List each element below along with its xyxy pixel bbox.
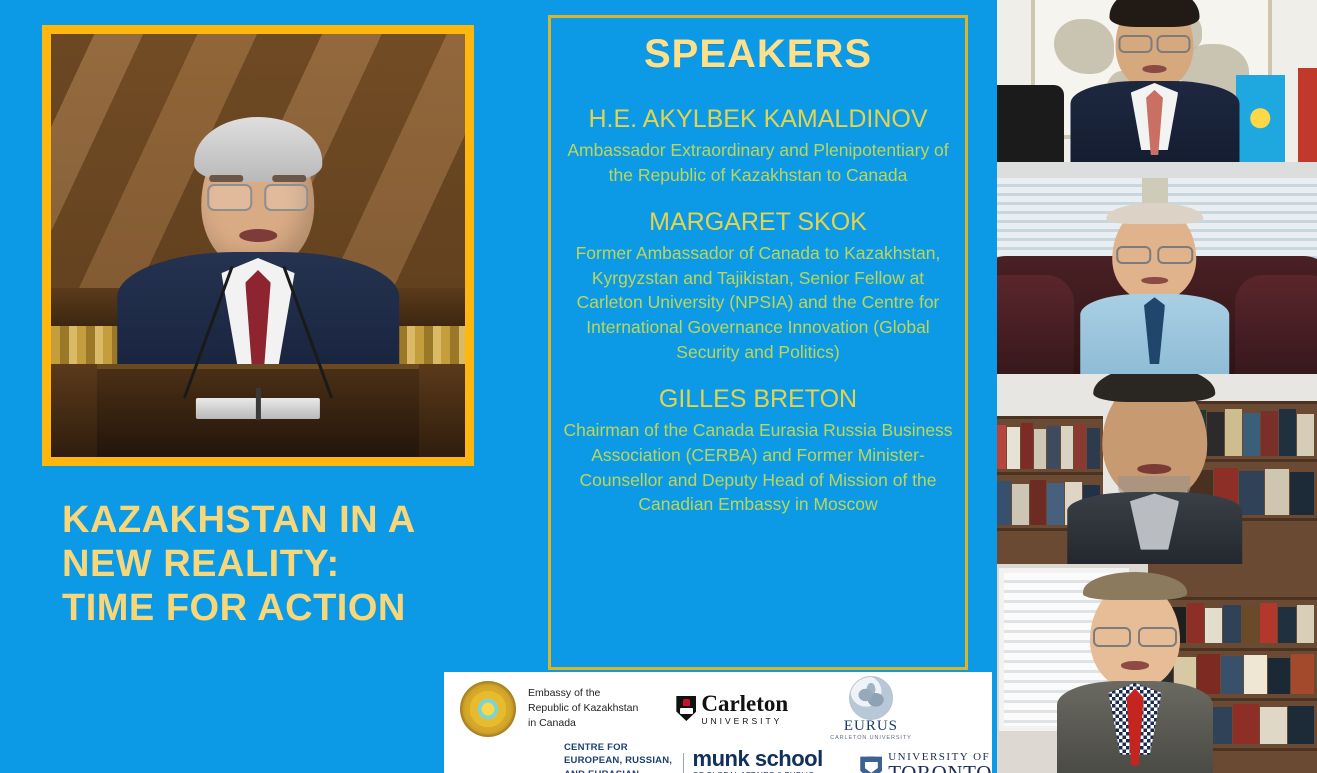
headline-line-3: TIME FOR ACTION	[62, 586, 482, 630]
speaker-role: Ambassador Extraordinary and Plenipotent…	[559, 138, 957, 188]
logo-divider	[683, 753, 684, 773]
participant-tile-2[interactable]	[992, 178, 1317, 374]
embassy-line-3: in Canada	[528, 716, 638, 731]
eyeglasses-icon	[1093, 627, 1176, 643]
eyeglasses-icon	[207, 184, 308, 207]
speaker-brow-right	[273, 175, 307, 182]
toronto-line-2: TORONTO	[888, 763, 992, 773]
ceres-text: CENTRE FOR EUROPEAN, RUSSIAN, AND EURASI…	[564, 741, 674, 773]
speaker-name: GILLES BRETON	[559, 385, 957, 413]
shared-presentation-slide: KAZAKHSTAN IN A NEW REALITY: TIME FOR AC…	[0, 0, 992, 773]
participant-3-shirt	[1130, 493, 1179, 549]
speaker-figure	[117, 128, 399, 402]
eurus-globe-icon	[849, 676, 893, 720]
participant-3-hair	[1093, 374, 1215, 402]
speaker-entry-1: H.E. AKYLBEK KAMALDINOV Ambassador Extra…	[559, 105, 957, 188]
tile-accent-strip	[992, 0, 997, 178]
participant-4-figure	[1057, 583, 1213, 773]
participant-1-head	[1116, 0, 1194, 90]
participant-2-mouth	[1141, 277, 1168, 285]
tile-accent-strip	[992, 178, 997, 374]
podium-nameplate	[196, 398, 320, 419]
university-of-toronto-logo: UNIVERSITY OF TORONTO	[860, 751, 992, 773]
eurus-logo: EURUS CARLETON UNIVERSITY	[830, 676, 911, 741]
speaker-entry-3: GILLES BRETON Chairman of the Canada Eur…	[559, 385, 957, 517]
president-portrait-frame	[42, 25, 474, 466]
ceres-line-3: AND EURASIAN STUDIES	[564, 768, 674, 773]
toronto-crest-icon	[860, 754, 882, 773]
headline-line-2: NEW REALITY:	[62, 542, 482, 586]
participant-3-figure	[1067, 378, 1243, 564]
tile-accent-strip	[992, 564, 997, 773]
participant-tile-1[interactable]	[992, 0, 1317, 178]
speaker-role: Former Ambassador of Canada to Kazakhsta…	[559, 241, 957, 365]
carleton-university-logo: Carleton UNIVERSITY	[676, 692, 788, 726]
tile-accent-strip	[992, 374, 997, 564]
embassy-line-1: Embassy of the	[528, 686, 638, 701]
eurus-name: EURUS	[844, 718, 898, 735]
speakers-panel: SPEAKERS H.E. AKYLBEK KAMALDINOV Ambassa…	[548, 15, 968, 670]
participant-1-mouth	[1142, 65, 1167, 73]
speaker-name: MARGARET SKOK	[559, 208, 957, 236]
podium-photo	[51, 34, 465, 457]
logo-row-top: Embassy of the Republic of Kazakhstan in…	[444, 672, 992, 741]
speakers-title: SPEAKERS	[559, 32, 957, 77]
desk-surface	[992, 162, 1317, 178]
speaker-role: Chairman of the Canada Eurasia Russia Bu…	[559, 418, 957, 517]
slide-headline: KAZAKHSTAN IN A NEW REALITY: TIME FOR AC…	[62, 498, 482, 630]
carleton-shield-icon	[676, 696, 696, 721]
participant-2-head	[1113, 206, 1197, 302]
eyeglasses-icon	[1119, 35, 1191, 49]
embassy-logo-text: Embassy of the Republic of Kazakhstan in…	[528, 686, 638, 732]
ceres-logo: CENTRE FOR EUROPEAN, RUSSIAN, AND EURASI…	[564, 741, 832, 773]
participant-2-tie	[1144, 297, 1165, 364]
speaker-entry-2: MARGARET SKOK Former Ambassador of Canad…	[559, 208, 957, 365]
participant-1-hair	[1109, 0, 1199, 27]
embassy-line-2: Republic of Kazakhstan	[528, 701, 638, 716]
carleton-sub: UNIVERSITY	[701, 716, 788, 726]
office-wall	[992, 0, 1317, 178]
speaker-mouth	[239, 229, 277, 242]
participant-4-head	[1090, 583, 1180, 689]
participant-2-shirt	[1080, 294, 1230, 374]
toronto-text: UNIVERSITY OF TORONTO	[888, 751, 992, 773]
participant-1-figure	[1070, 0, 1239, 167]
munk-school-logo: munk school OF GLOBAL AFFAIRS & PUBLIC P…	[693, 748, 833, 773]
eyeglasses-icon	[1116, 246, 1193, 260]
speaker-head	[202, 128, 315, 269]
participant-3-jacket	[1067, 492, 1243, 564]
speaker-brow-left	[210, 175, 244, 182]
video-conference-screen: KAZAKHSTAN IN A NEW REALITY: TIME FOR AC…	[0, 0, 1317, 773]
munk-name: munk school	[693, 748, 833, 770]
ceres-line-1: CENTRE FOR	[564, 741, 674, 754]
participant-1-suit	[1070, 81, 1239, 167]
headline-line-1: KAZAKHSTAN IN A	[62, 498, 482, 542]
participant-video-strip	[992, 0, 1317, 773]
ceres-line-2: EUROPEAN, RUSSIAN,	[564, 754, 674, 767]
participant-2-figure	[1080, 206, 1230, 374]
speaker-name: H.E. AKYLBEK KAMALDINOV	[559, 105, 957, 133]
kazakhstan-emblem-icon	[460, 681, 516, 737]
participant-4-jacket	[1057, 681, 1213, 773]
participant-tile-3[interactable]	[992, 374, 1317, 564]
participant-2-hair	[1106, 203, 1203, 224]
logo-row-bottom: CENTRE FOR EUROPEAN, RUSSIAN, AND EURASI…	[444, 741, 992, 773]
carleton-name: Carleton	[701, 692, 788, 715]
sponsor-logo-bar: Embassy of the Republic of Kazakhstan in…	[444, 672, 992, 773]
participant-4-mouth	[1121, 661, 1150, 669]
participant-3-mouth	[1138, 464, 1172, 474]
participant-tile-4[interactable]	[992, 564, 1317, 773]
participant-3-head	[1102, 378, 1207, 501]
